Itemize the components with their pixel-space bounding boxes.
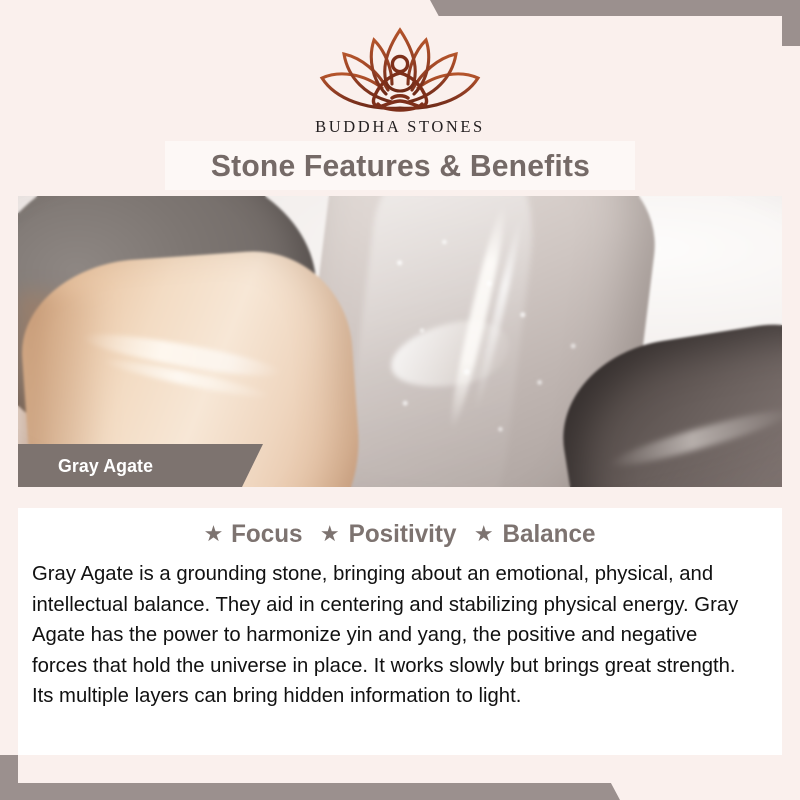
star-icon: ★ — [204, 523, 224, 545]
benefit-item-balance: ★ Balance — [474, 520, 597, 549]
benefit-label: Balance — [502, 520, 595, 549]
stone-name-label: Gray Agate — [58, 455, 153, 477]
benefit-item-positivity: ★ Positivity — [320, 520, 458, 549]
benefit-item-focus: ★ Focus — [204, 520, 304, 549]
stone-info-card: BUDDHA STONES Stone Features & Benefits … — [0, 0, 800, 800]
benefits-list: ★ Focus ★ Positivity ★ Balance — [18, 520, 782, 549]
stone-name-banner: Gray Agate — [18, 444, 263, 487]
stone-photo: Gray Agate — [18, 196, 782, 487]
benefit-label: Positivity — [348, 520, 456, 549]
stone-description: Gray Agate is a grounding stone, bringin… — [32, 559, 757, 712]
brand-logo: BUDDHA STONES — [18, 24, 782, 137]
star-icon: ★ — [474, 523, 494, 545]
benefit-label: Focus — [231, 520, 302, 549]
star-icon: ★ — [320, 523, 340, 545]
title-banner: Stone Features & Benefits — [165, 141, 635, 190]
lotus-meditation-figure-icon — [312, 24, 488, 116]
card-header: BUDDHA STONES Stone Features & Benefits — [18, 16, 782, 196]
brand-name: BUDDHA STONES — [18, 117, 782, 137]
page-title: Stone Features & Benefits — [210, 148, 589, 184]
content-panel: ★ Focus ★ Positivity ★ Balance Gray Agat… — [18, 508, 782, 755]
